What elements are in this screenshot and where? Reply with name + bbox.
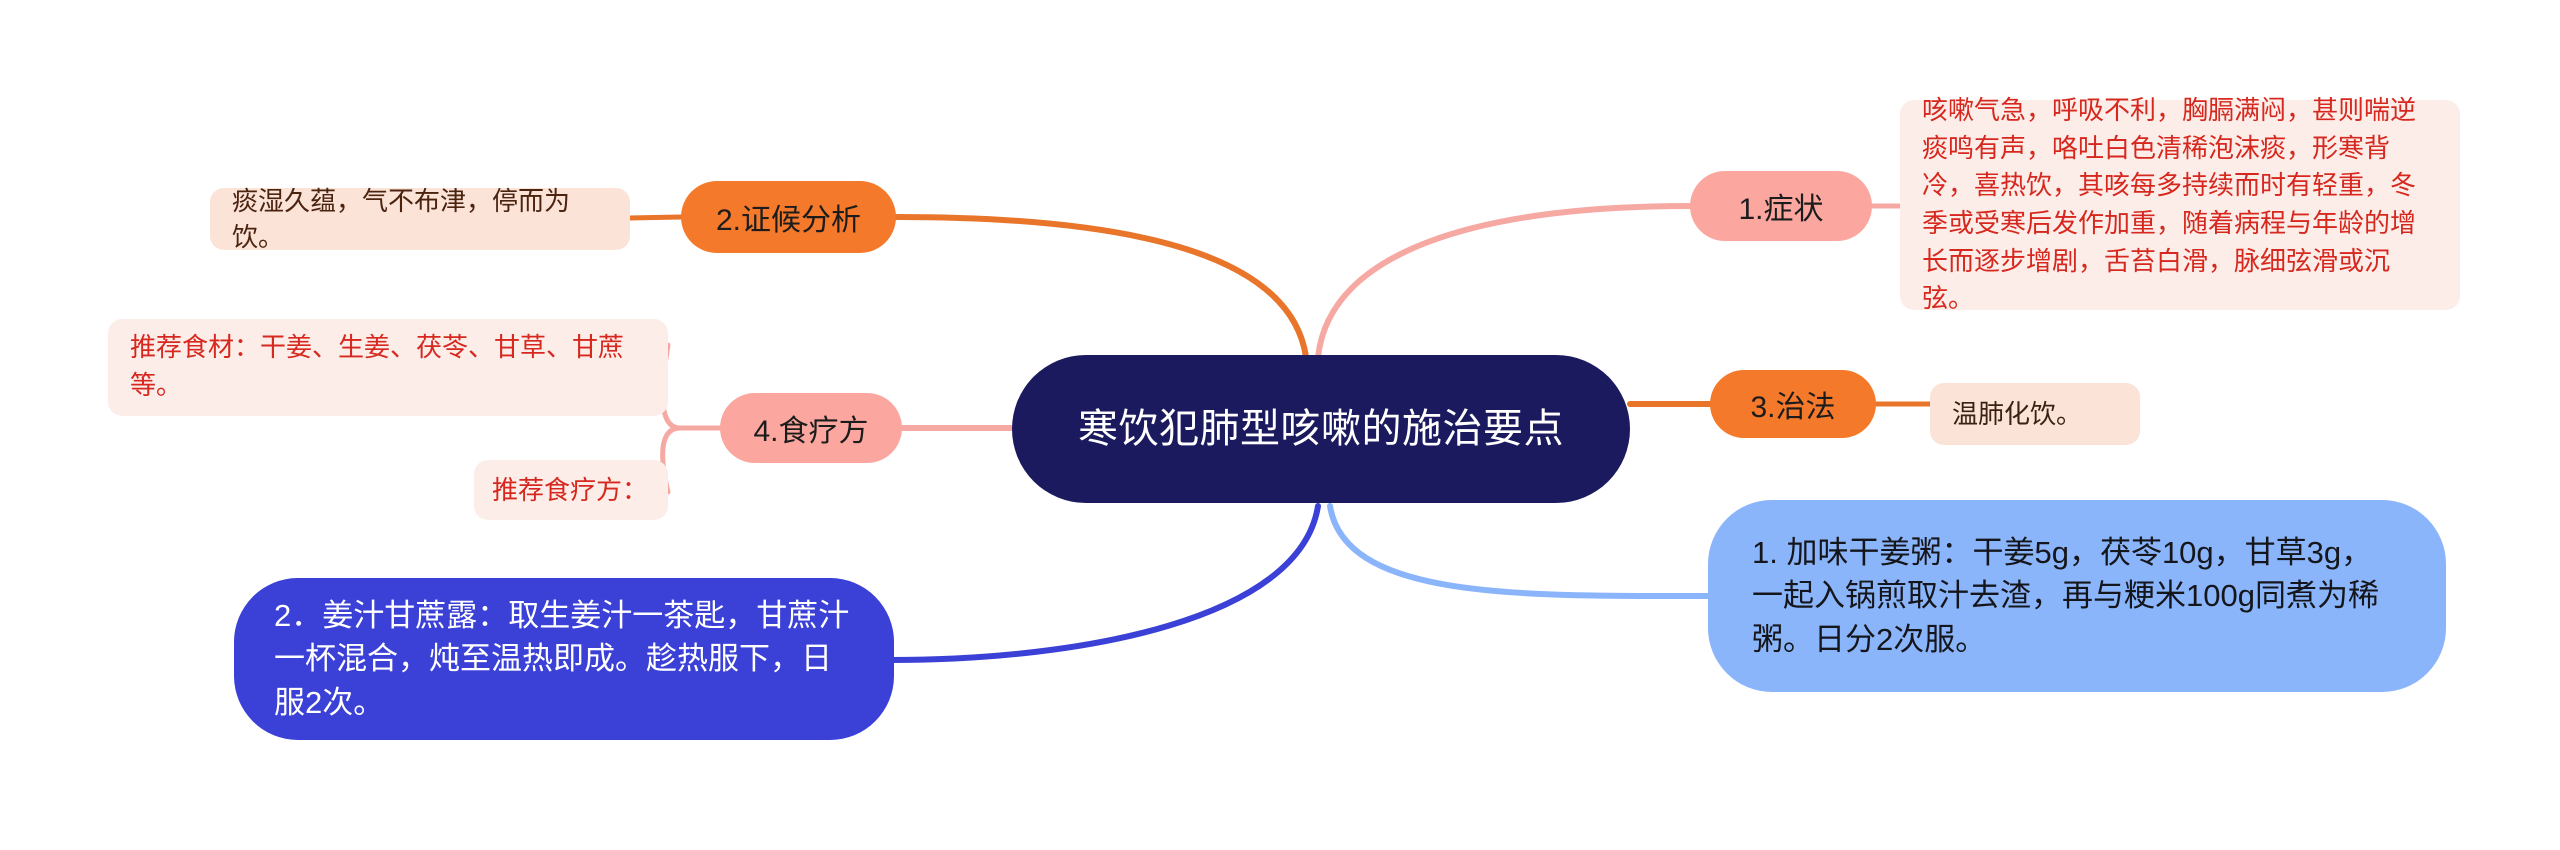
connector-center-to-recipe-1 bbox=[1330, 506, 1716, 596]
mindmap-canvas: 寒饮犯肺型咳嗽的施治要点 1.症状 咳嗽气急，呼吸不利，胸膈满闷，甚则喘逆痰鸣有… bbox=[0, 0, 2560, 850]
branch-node-diet-label: 4.食疗方 bbox=[720, 406, 902, 450]
branch-node-symptom[interactable]: 1.症状 bbox=[1690, 171, 1872, 241]
recipe-bubble-2-text: 2．姜汁甘蔗露：取生姜汁一茶匙，甘蔗汁一杯混合，炖至温热即成。趁热服下，日服2次… bbox=[274, 594, 854, 724]
leaf-diet-ingredients[interactable]: 推荐食材：干姜、生姜、茯苓、甘草、甘蔗等。 bbox=[108, 319, 668, 416]
leaf-diet-ingredients-text: 推荐食材：干姜、生姜、茯苓、甘草、甘蔗等。 bbox=[130, 329, 646, 404]
leaf-syndrome-detail-text: 痰湿久蕴，气不布津，停而为饮。 bbox=[232, 183, 608, 256]
connector-syndrome-to-leaf bbox=[630, 217, 681, 218]
leaf-diet-recipe-label-text: 推荐食疗方： bbox=[492, 472, 650, 508]
connector-center-to-symptom bbox=[1318, 206, 1690, 357]
recipe-bubble-1[interactable]: 1. 加味干姜粥：干姜5g，茯苓10g，甘草3g，一起入锅煎取汁去渣，再与粳米1… bbox=[1708, 500, 2446, 692]
leaf-syndrome-detail[interactable]: 痰湿久蕴，气不布津，停而为饮。 bbox=[210, 188, 630, 250]
connector-center-to-recipe-2 bbox=[890, 506, 1318, 660]
branch-node-syndrome-label: 2.证候分析 bbox=[681, 195, 896, 239]
branch-node-diet[interactable]: 4.食疗方 bbox=[720, 393, 902, 463]
leaf-therapy-detail[interactable]: 温肺化饮。 bbox=[1930, 383, 2140, 445]
central-node-label: 寒饮犯肺型咳嗽的施治要点 bbox=[1052, 403, 1590, 455]
leaf-diet-recipe-label[interactable]: 推荐食疗方： bbox=[474, 460, 668, 520]
leaf-symptom-detail-text: 咳嗽气急，呼吸不利，胸膈满闷，甚则喘逆痰鸣有声，咯吐白色清稀泡沫痰，形寒背冷，喜… bbox=[1922, 92, 2438, 318]
central-node[interactable]: 寒饮犯肺型咳嗽的施治要点 bbox=[1012, 355, 1630, 503]
connector-center-to-syndrome bbox=[896, 217, 1306, 357]
recipe-bubble-2[interactable]: 2．姜汁甘蔗露：取生姜汁一茶匙，甘蔗汁一杯混合，炖至温热即成。趁热服下，日服2次… bbox=[234, 578, 894, 740]
branch-node-syndrome[interactable]: 2.证候分析 bbox=[681, 181, 896, 253]
branch-node-therapy[interactable]: 3.治法 bbox=[1710, 370, 1876, 438]
branch-node-therapy-label: 3.治法 bbox=[1710, 382, 1876, 426]
branch-node-symptom-label: 1.症状 bbox=[1690, 184, 1872, 228]
recipe-bubble-1-text: 1. 加味干姜粥：干姜5g，茯苓10g，甘草3g，一起入锅煎取汁去渣，再与粳米1… bbox=[1752, 531, 2402, 661]
leaf-symptom-detail[interactable]: 咳嗽气急，呼吸不利，胸膈满闷，甚则喘逆痰鸣有声，咯吐白色清稀泡沫痰，形寒背冷，喜… bbox=[1900, 100, 2460, 310]
leaf-therapy-detail-text: 温肺化饮。 bbox=[1952, 396, 2118, 432]
